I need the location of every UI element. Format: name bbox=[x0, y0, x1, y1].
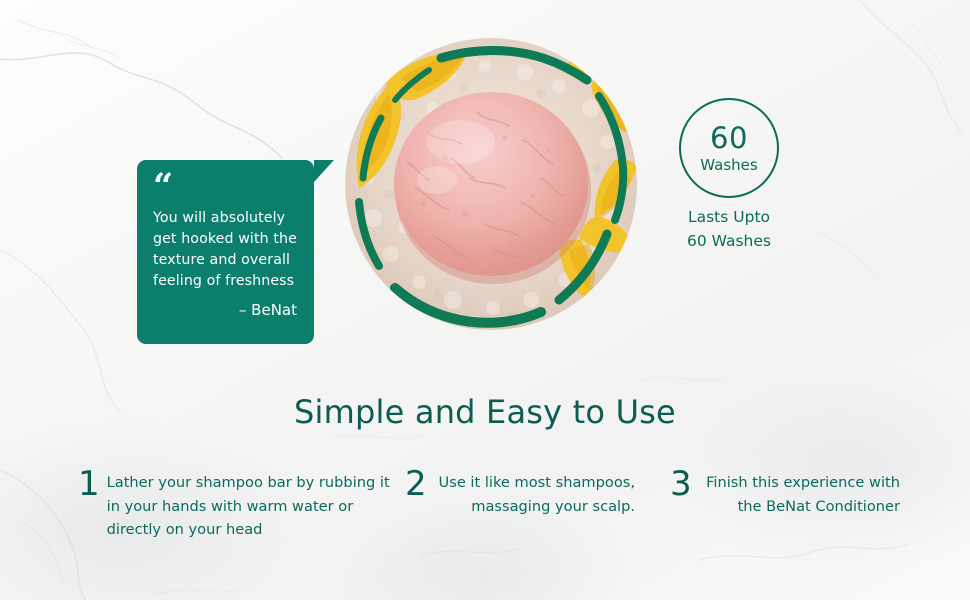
step-text: Finish this experience with the BeNat Co… bbox=[699, 468, 900, 518]
washes-badge: 60 Washes bbox=[679, 98, 779, 198]
washes-count: 60 bbox=[710, 124, 748, 153]
washes-unit-label: Washes bbox=[700, 158, 757, 173]
step-item: 1 Lather your shampoo bar by rubbing it … bbox=[78, 468, 398, 542]
section-heading: Simple and Easy to Use bbox=[0, 393, 970, 431]
step-item: 3 Finish this experience with the BeNat … bbox=[670, 468, 900, 518]
product-photo bbox=[345, 38, 637, 330]
step-number: 1 bbox=[78, 468, 100, 500]
infographic-canvas: “ You will absolutely get hooked with th… bbox=[0, 0, 970, 600]
product-photo-art bbox=[345, 38, 637, 330]
quote-mark-icon: “ bbox=[153, 174, 300, 199]
step-number: 3 bbox=[670, 468, 692, 500]
steps-list: 1 Lather your shampoo bar by rubbing it … bbox=[0, 468, 970, 568]
testimonial-quote-card: “ You will absolutely get hooked with th… bbox=[137, 160, 314, 344]
quote-text: You will absolutely get hooked with the … bbox=[153, 208, 300, 292]
washes-caption-line-2: 60 Washes bbox=[640, 229, 818, 253]
step-text: Use it like most shampoos, massaging you… bbox=[434, 468, 635, 518]
washes-caption: Lasts Upto 60 Washes bbox=[640, 205, 818, 253]
step-item: 2 Use it like most shampoos, massaging y… bbox=[405, 468, 635, 518]
washes-caption-line-1: Lasts Upto bbox=[640, 205, 818, 229]
quote-author: – BeNat bbox=[153, 301, 300, 319]
step-text: Lather your shampoo bar by rubbing it in… bbox=[107, 468, 398, 542]
quote-bubble-tail bbox=[314, 160, 334, 182]
step-number: 2 bbox=[405, 468, 427, 500]
